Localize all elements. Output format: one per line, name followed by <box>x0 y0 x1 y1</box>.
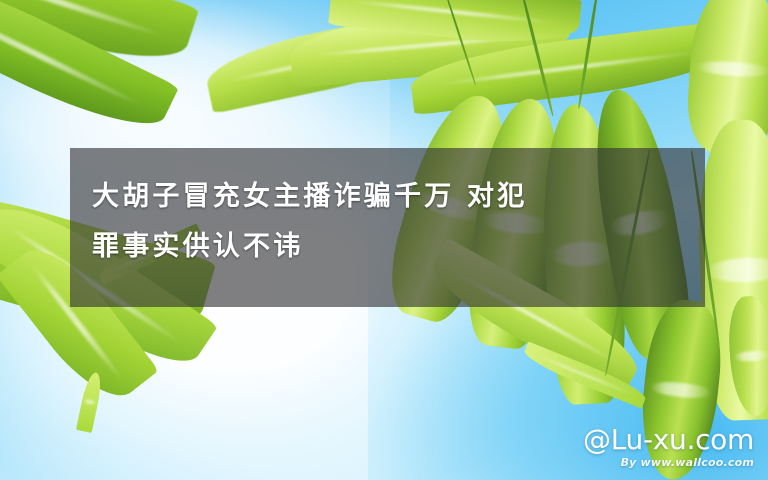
watermark-site-name: @Lu-xu.com <box>583 425 754 455</box>
watermark: @Lu-xu.com By www.wallcoo.com <box>583 425 754 470</box>
headline-line-1: 大胡子冒充女主播诈骗千万 对犯 <box>92 172 705 222</box>
headline-overlay-band: 大胡子冒充女主播诈骗千万 对犯 罪事实供认不讳 <box>70 148 705 307</box>
watermark-attribution: By www.wallcoo.com <box>583 456 754 470</box>
wallpaper-image: 大胡子冒充女主播诈骗千万 对犯 罪事实供认不讳 @Lu-xu.com By ww… <box>0 0 768 480</box>
headline-line-2: 罪事实供认不讳 <box>92 222 705 272</box>
